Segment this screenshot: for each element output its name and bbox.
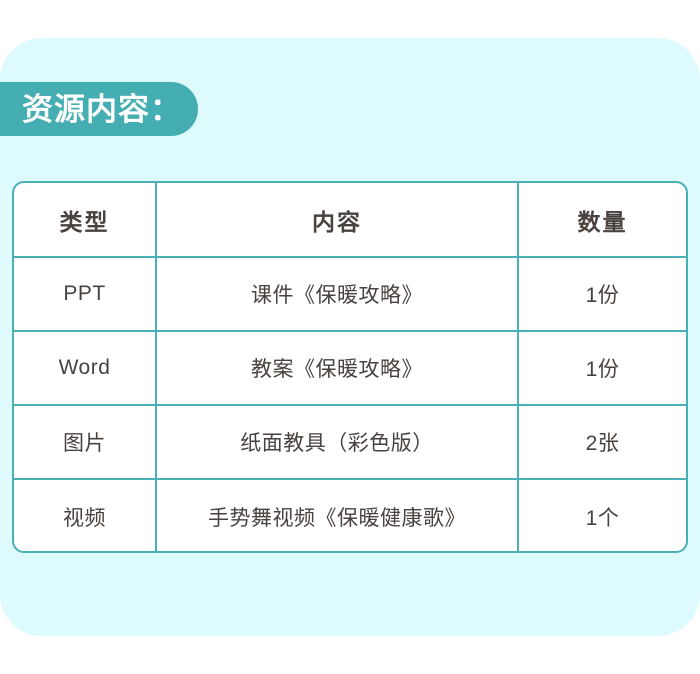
table-row: 图片 纸面教具（彩色版） 2张 bbox=[14, 405, 686, 479]
cell-type: 视频 bbox=[14, 479, 156, 553]
table-row: 视频 手势舞视频《保暖健康歌》 1个 bbox=[14, 479, 686, 553]
cell-count: 2张 bbox=[518, 405, 686, 479]
resource-table: 类型 内容 数量 PPT 课件《保暖攻略》 1份 Word 教案《保暖攻略》 1… bbox=[14, 183, 686, 553]
cell-count: 1份 bbox=[518, 331, 686, 405]
table-body: PPT 课件《保暖攻略》 1份 Word 教案《保暖攻略》 1份 图片 纸面教具… bbox=[14, 257, 686, 553]
column-header-count: 数量 bbox=[518, 183, 686, 257]
cell-content: 课件《保暖攻略》 bbox=[156, 257, 518, 331]
section-title-badge: 资源内容： bbox=[0, 82, 198, 136]
section-title-text: 资源内容： bbox=[22, 94, 182, 125]
column-header-type: 类型 bbox=[14, 183, 156, 257]
cell-content: 手势舞视频《保暖健康歌》 bbox=[156, 479, 518, 553]
cell-count: 1份 bbox=[518, 257, 686, 331]
table-header-row: 类型 内容 数量 bbox=[14, 183, 686, 257]
cell-count: 1个 bbox=[518, 479, 686, 553]
column-header-content: 内容 bbox=[156, 183, 518, 257]
table-header: 类型 内容 数量 bbox=[14, 183, 686, 257]
cell-content: 纸面教具（彩色版） bbox=[156, 405, 518, 479]
resource-table-container: 类型 内容 数量 PPT 课件《保暖攻略》 1份 Word 教案《保暖攻略》 1… bbox=[12, 181, 688, 553]
table-row: PPT 课件《保暖攻略》 1份 bbox=[14, 257, 686, 331]
table-row: Word 教案《保暖攻略》 1份 bbox=[14, 331, 686, 405]
cell-type: 图片 bbox=[14, 405, 156, 479]
cell-type: PPT bbox=[14, 257, 156, 331]
cell-content: 教案《保暖攻略》 bbox=[156, 331, 518, 405]
cell-type: Word bbox=[14, 331, 156, 405]
